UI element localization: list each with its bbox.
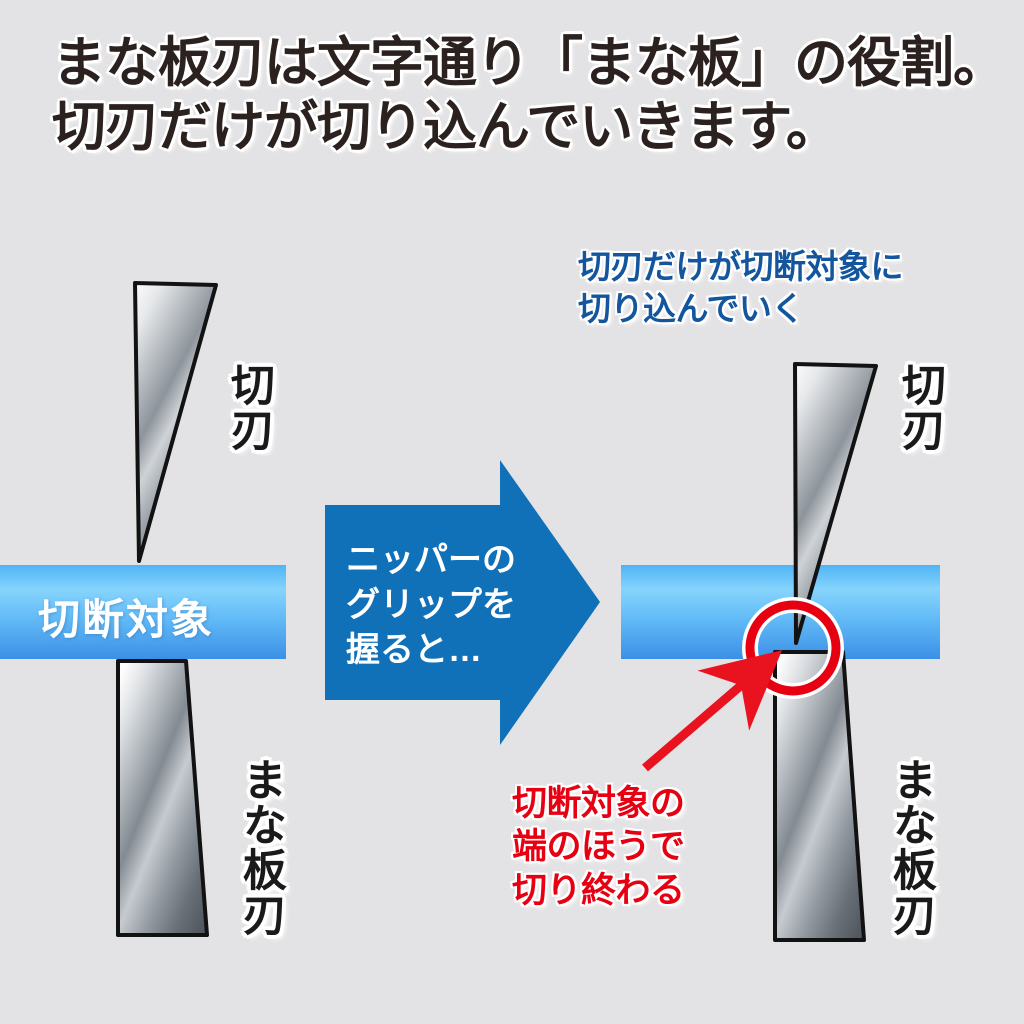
workpiece-label-before: 切断対象 bbox=[38, 586, 214, 647]
page-title-line-1: まな板刃は文字通り「まな板」の役割。 bbox=[52, 33, 1006, 93]
lower-blade-label-after: まな板刃 bbox=[887, 757, 932, 937]
red-callout-line-1: 切断対象の bbox=[512, 784, 685, 823]
transition-arrow-line-2: グリップを bbox=[346, 586, 516, 624]
red-callout: 切断対象の端のほうで切り終わる bbox=[512, 782, 685, 912]
blue-callout-line-1: 切刃だけが切断対象に bbox=[578, 248, 903, 285]
pointer-arrow bbox=[645, 676, 752, 768]
infographic-canvas: まな板刃は文字通り「まな板」の役割。切刃だけが切り込んでいきます。 切刃だけが切… bbox=[0, 0, 1024, 1024]
blue-callout-line-2: 切り込んでいく bbox=[578, 290, 804, 327]
lower-blade-label-before: まな板刃 bbox=[237, 757, 282, 937]
upper-blade-label-before: 切刃 bbox=[225, 362, 270, 452]
transition-arrow-label: ニッパーのグリップを握ると… bbox=[346, 538, 516, 673]
lower-anvil-blade-before bbox=[118, 661, 207, 935]
transition-arrow-line-3: 握ると… bbox=[346, 631, 482, 669]
upper-cutting-blade-before bbox=[135, 283, 216, 561]
red-callout-line-3: 切り終わる bbox=[512, 871, 685, 910]
page-title-line-2: 切刃だけが切り込んでいきます。 bbox=[52, 96, 1006, 160]
red-callout-line-2: 端のほうで bbox=[512, 827, 685, 866]
page-title: まな板刃は文字通り「まな板」の役割。切刃だけが切り込んでいきます。 bbox=[52, 32, 1006, 159]
transition-arrow-line-1: ニッパーの bbox=[346, 541, 516, 579]
blue-callout: 切刃だけが切断対象に切り込んでいく bbox=[578, 246, 903, 329]
upper-blade-label-after: 切刃 bbox=[896, 362, 941, 452]
